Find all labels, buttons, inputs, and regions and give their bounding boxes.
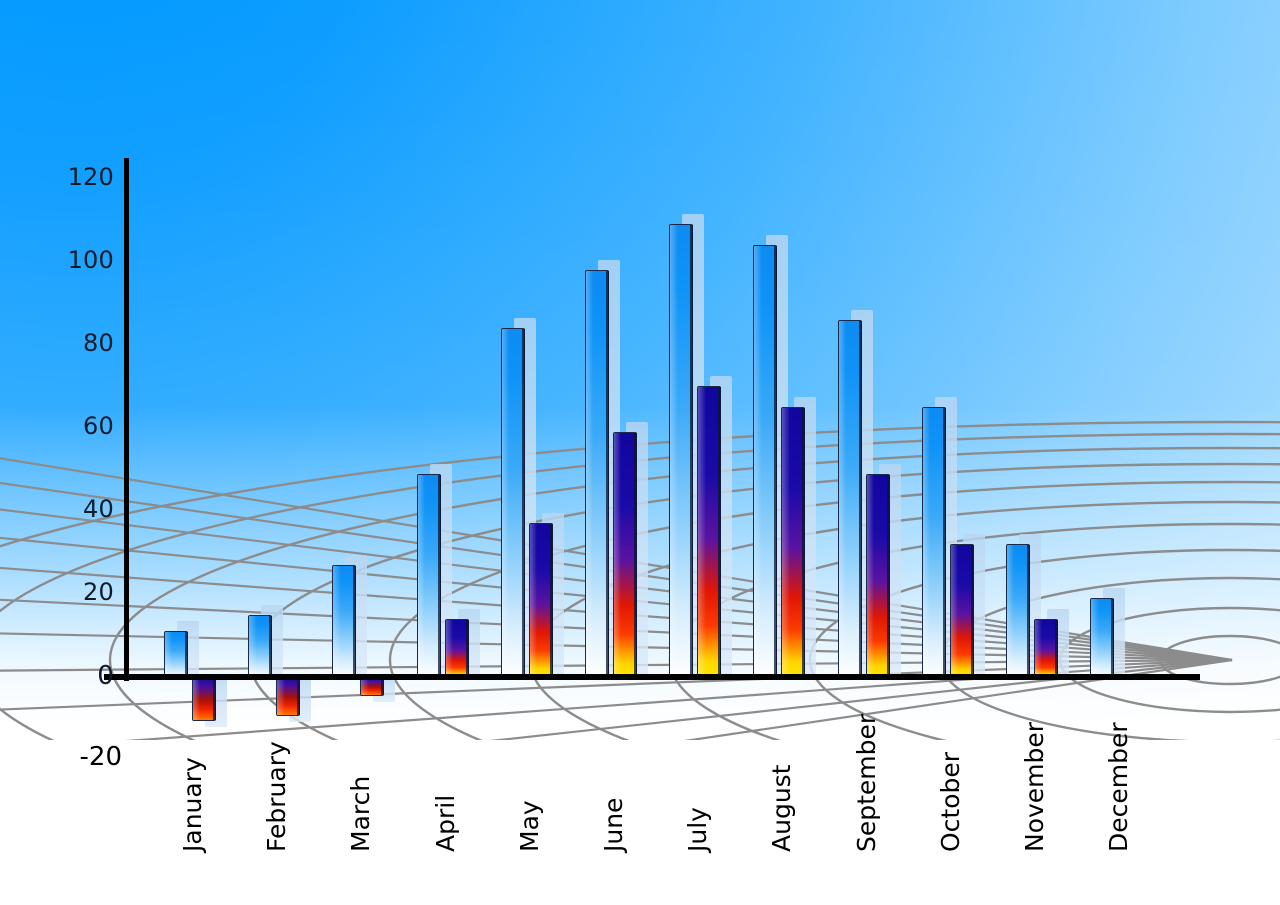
bar-side-edge (802, 408, 805, 678)
y-tick-40: 40 (46, 497, 114, 521)
x-tick-august: August (767, 765, 796, 853)
bar-face (753, 245, 777, 679)
bar-side-edge (887, 475, 890, 678)
y-tick-120: 120 (46, 165, 114, 189)
bar-side-edge (269, 616, 272, 678)
bar-side-edge (634, 433, 637, 678)
x-tick-february: February (262, 741, 291, 852)
bar-face (276, 677, 300, 716)
bar-side-edge (774, 246, 777, 678)
bar-face (922, 407, 946, 679)
bar-face (613, 432, 637, 679)
bar-face (529, 523, 553, 679)
bar-face (950, 544, 974, 679)
bar-face (445, 619, 469, 679)
bar-side-edge (690, 225, 693, 678)
x-tick-may: May (515, 800, 544, 852)
x-tick-june: June (599, 798, 628, 852)
bar-side-edge (213, 678, 216, 720)
x-tick-july: July (683, 807, 712, 852)
bar-side-edge (606, 271, 609, 678)
bar-side-edge (971, 545, 974, 678)
bar-side-edge (438, 475, 441, 678)
bar-side-edge (1055, 620, 1058, 678)
bar-face (248, 615, 272, 679)
x-tick-november: November (1020, 722, 1049, 852)
bar-side-edge (297, 678, 300, 715)
bar-face (164, 631, 188, 679)
zero-baseline (104, 674, 1200, 680)
bar-face (1090, 598, 1114, 679)
bar-face (501, 328, 525, 679)
bar-side-edge (466, 620, 469, 678)
bar-side-edge (859, 321, 862, 678)
x-tick-april: April (431, 795, 460, 852)
bar-face (838, 320, 862, 679)
y-axis-line (124, 158, 129, 681)
x-tick-january: January (178, 757, 207, 852)
bar-face (417, 474, 441, 679)
bar-face (1006, 544, 1030, 679)
bar-side-edge (550, 524, 553, 678)
x-tick-october: October (936, 752, 965, 852)
y-tick-20: 20 (46, 580, 114, 604)
y-tick-80: 80 (46, 331, 114, 355)
bar-side-edge (522, 329, 525, 678)
bar-face (697, 386, 721, 679)
bar-side-edge (943, 408, 946, 678)
x-tick-december: December (1104, 722, 1133, 852)
y-tick-0: 0 (46, 663, 114, 689)
bar-side-edge (185, 632, 188, 678)
x-tick-march: March (346, 776, 375, 852)
bar-face (192, 677, 216, 721)
bar-side-edge (718, 387, 721, 678)
bar-side-edge (1111, 599, 1114, 678)
bar-face (585, 270, 609, 679)
bar-side-edge (381, 678, 384, 695)
bar-chart: 120100806040200 -20 JanuaryFebruaryMarch… (0, 0, 1280, 905)
bar-face (669, 224, 693, 679)
bar-face (866, 474, 890, 679)
y-axis-label-minus-20: -20 (62, 742, 122, 772)
bar-face (332, 565, 356, 679)
x-tick-september: September (852, 714, 881, 852)
y-tick-100: 100 (46, 248, 114, 272)
bar-face (1034, 619, 1058, 679)
bar-side-edge (353, 566, 356, 678)
y-tick-60: 60 (46, 414, 114, 438)
bar-side-edge (1027, 545, 1030, 678)
bar-face (781, 407, 805, 679)
